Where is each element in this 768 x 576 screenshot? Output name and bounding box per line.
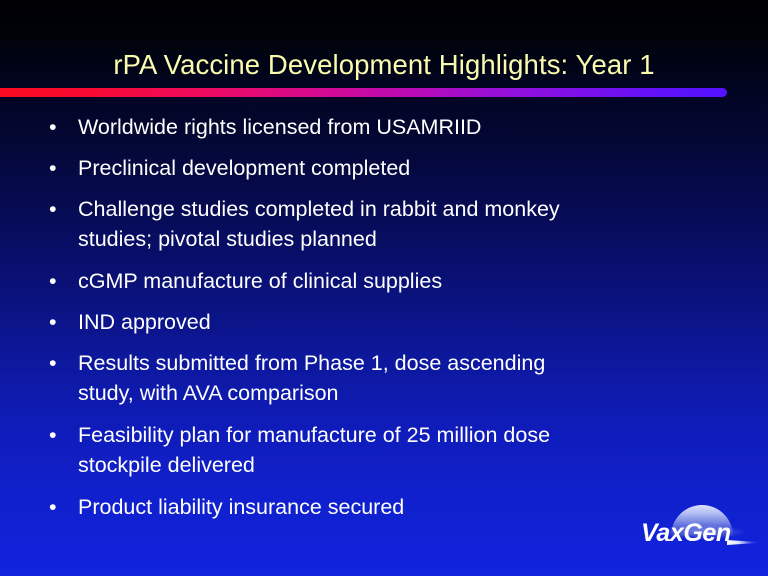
- list-item: • IND approved: [44, 307, 704, 337]
- list-item-text: IND approved: [78, 307, 704, 337]
- list-item: • cGMP manufacture of clinical supplies: [44, 266, 704, 296]
- bullet-marker-icon: •: [44, 492, 78, 522]
- list-item: • Preclinical development completed: [44, 153, 704, 183]
- vaxgen-logo: VaxGen: [641, 503, 759, 561]
- list-item: • Challenge studies completed in rabbit …: [44, 194, 704, 254]
- bullet-marker-icon: •: [44, 194, 78, 224]
- list-item: • Product liability insurance secured: [44, 492, 704, 522]
- logo-wordmark: VaxGen: [641, 519, 741, 547]
- bullet-marker-icon: •: [44, 420, 78, 450]
- list-item-text: Challenge studies completed in rabbit an…: [78, 194, 704, 254]
- list-item-text: Preclinical development completed: [78, 153, 704, 183]
- title-accent-bar: [0, 88, 727, 97]
- list-item: • Worldwide rights licensed from USAMRII…: [44, 112, 704, 142]
- presentation-slide: rPA Vaccine Development Highlights: Year…: [0, 0, 768, 576]
- bullet-marker-icon: •: [44, 112, 78, 142]
- bullet-marker-icon: •: [44, 266, 78, 296]
- bullet-marker-icon: •: [44, 348, 78, 378]
- list-item-text: Product liability insurance secured: [78, 492, 704, 522]
- slide-title: rPA Vaccine Development Highlights: Year…: [0, 49, 768, 81]
- list-item-text: Results submitted from Phase 1, dose asc…: [78, 348, 704, 408]
- bullet-marker-icon: •: [44, 307, 78, 337]
- list-item-text: cGMP manufacture of clinical supplies: [78, 266, 704, 296]
- list-item: • Results submitted from Phase 1, dose a…: [44, 348, 704, 408]
- list-item-text: Feasibility plan for manufacture of 25 m…: [78, 420, 704, 480]
- logo-swoosh-icon: [727, 540, 759, 545]
- bullet-list: • Worldwide rights licensed from USAMRII…: [44, 112, 704, 533]
- list-item-text: Worldwide rights licensed from USAMRIID: [78, 112, 704, 142]
- list-item: • Feasibility plan for manufacture of 25…: [44, 420, 704, 480]
- bullet-marker-icon: •: [44, 153, 78, 183]
